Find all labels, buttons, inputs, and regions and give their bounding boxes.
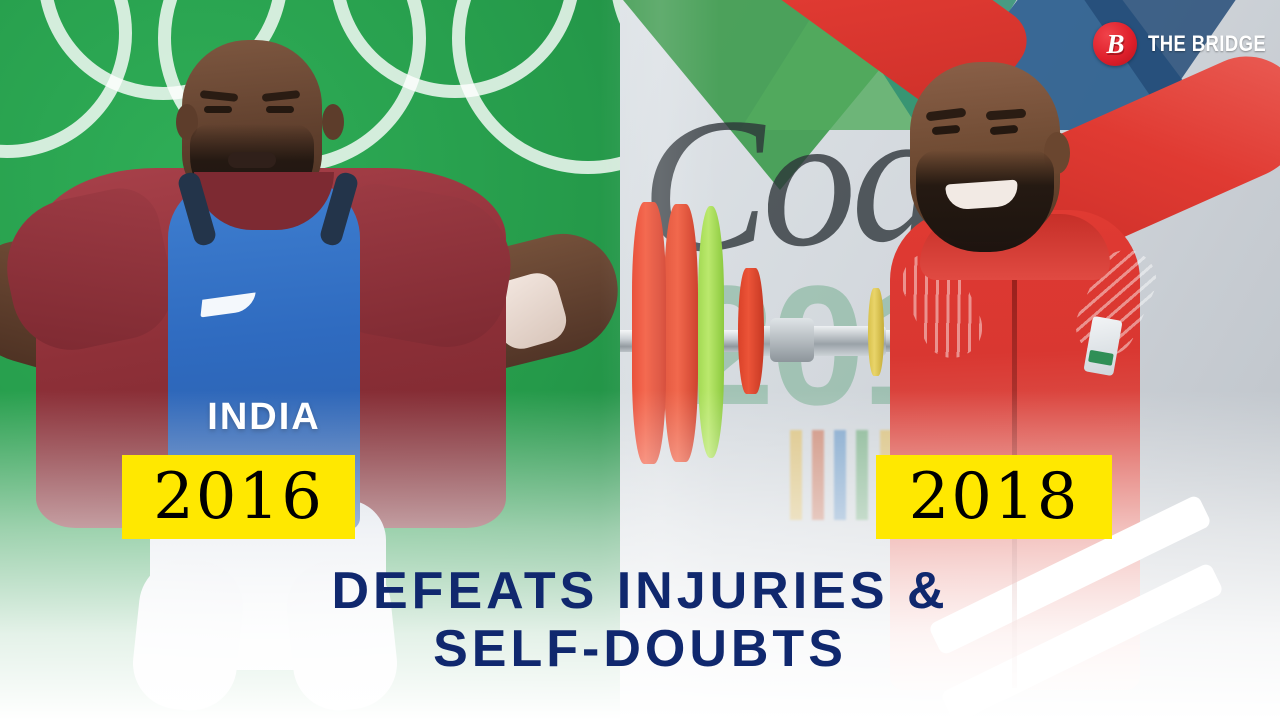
year-badge-2016: 2016 [122, 455, 355, 539]
year-badge-2018: 2018 [876, 455, 1112, 539]
athlete-ear-right [322, 104, 344, 140]
athlete-eye-right [266, 106, 294, 113]
bridge-b-monogram-icon: B [1093, 22, 1137, 66]
logo-letter: B [1093, 22, 1137, 66]
headline-line-2: SELF-DOUBTS [0, 620, 1280, 678]
athlete-eye-left [204, 106, 232, 113]
headline: DEFEATS INJURIES & SELF-DOUBTS [0, 562, 1280, 678]
brand-logo[interactable]: B THE BRIDGE [1093, 22, 1280, 66]
banner-canvas: INDIA Coast 2018 [0, 0, 1280, 720]
headline-line-1: DEFEATS INJURIES & [331, 562, 948, 620]
athlete-mouth [228, 152, 276, 168]
brand-name: THE BRIDGE [1148, 31, 1266, 57]
kit-country-label: INDIA [168, 396, 360, 439]
